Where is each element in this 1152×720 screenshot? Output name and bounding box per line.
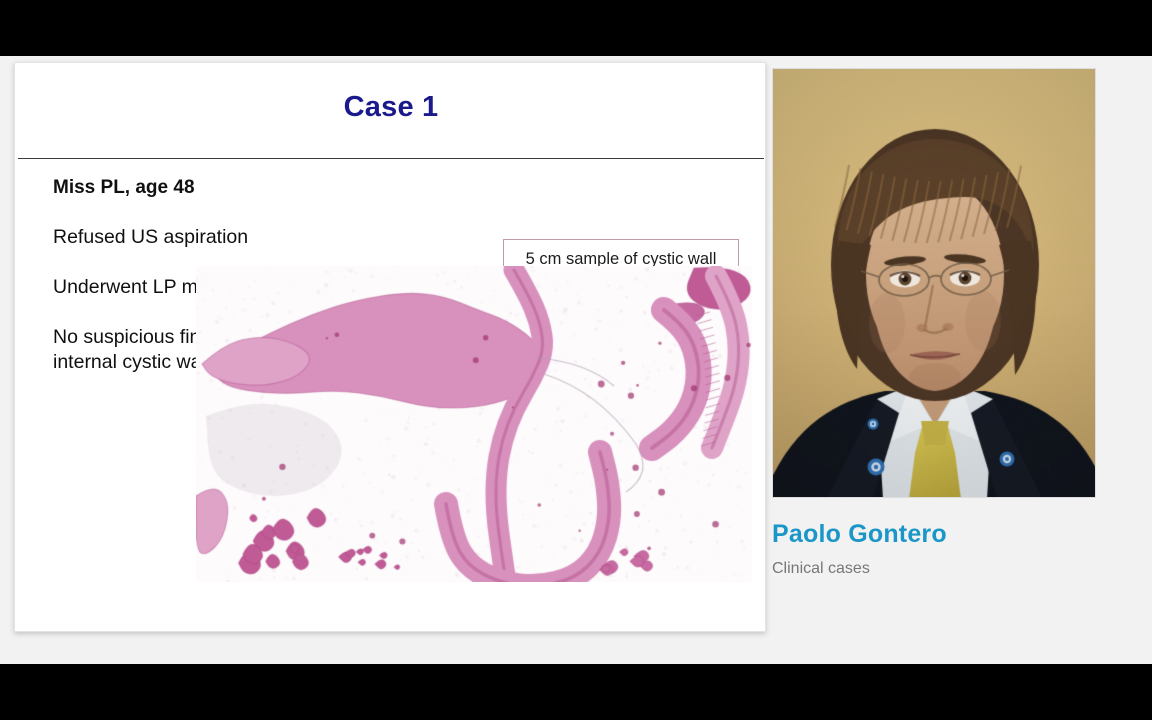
letterbox-top xyxy=(0,0,1152,56)
speaker-panel: Paolo Gontero Clinical cases xyxy=(772,68,1096,578)
patient-line: Miss PL, age 48 xyxy=(53,175,195,200)
speaker-role: Clinical cases xyxy=(772,560,1096,578)
video-player-viewport: Case 1 Miss PL, age 48 Refused US aspira… xyxy=(0,0,1152,720)
pathology-canvas xyxy=(196,266,752,582)
letterbox-bottom xyxy=(0,664,1152,720)
slide-title-zone: Case 1 xyxy=(15,63,766,158)
presentation-stage: Case 1 Miss PL, age 48 Refused US aspira… xyxy=(0,56,1152,664)
pathology-image xyxy=(196,266,752,582)
speaker-headshot xyxy=(772,68,1096,498)
headshot-canvas xyxy=(773,69,1096,498)
speaker-name: Paolo Gontero xyxy=(772,520,1096,549)
page-title: Case 1 xyxy=(15,91,766,124)
history-line-2: Underwent LP ma xyxy=(53,275,209,300)
history-line-1: Refused US aspiration xyxy=(53,225,248,250)
